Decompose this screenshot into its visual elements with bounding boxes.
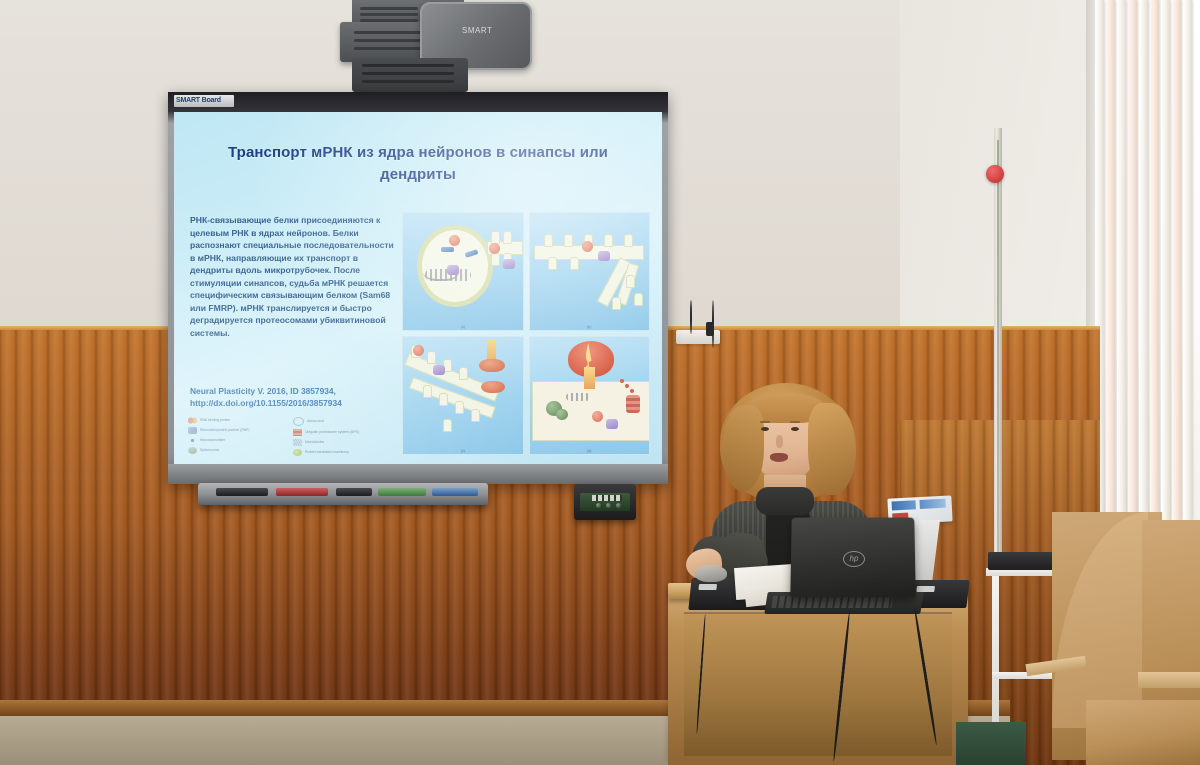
microtubule-icon: [293, 439, 302, 446]
window-with-blinds: [1095, 0, 1200, 520]
desk-front-panel: [684, 612, 952, 756]
panel-label: (d): [530, 449, 650, 453]
panel-label: (c): [403, 449, 523, 453]
side-table-leg: [992, 576, 999, 724]
proteasome-icon: [293, 429, 302, 436]
legend-item: Ribonucleoprotein particle (RNP): [188, 427, 289, 434]
eye: [761, 427, 769, 431]
citation-doi[interactable]: http://dx.doi.org/10.1155/2016/3857934: [190, 397, 405, 409]
pen-blue[interactable]: [432, 488, 478, 496]
rna-binding-protein-icon: [188, 417, 197, 424]
slide-citation: Neural Plasticity V. 2016, ID 3857934, h…: [190, 385, 405, 409]
laptop-lid[interactable]: hp: [790, 518, 915, 598]
translation-machinery-icon: [293, 449, 302, 456]
nose: [776, 435, 783, 448]
citation-journal: Neural Plasticity V. 2016, ID 3857934,: [190, 385, 405, 397]
control-panel-face: [580, 493, 630, 511]
bench-seat: [1138, 672, 1200, 688]
legend-item: RNA binding protein: [188, 417, 289, 424]
board-top-bezel: [168, 92, 668, 112]
cable: [712, 300, 714, 348]
figure-grid: (a): [402, 212, 650, 455]
status-leds: [592, 495, 622, 501]
pole-stripe: [997, 140, 999, 560]
turtleneck-collar: [756, 487, 814, 515]
legend-item: Protein translation machinery: [293, 449, 394, 456]
rnp-particle-icon: [188, 427, 197, 434]
slide-body-text: РНК-связывающие белки присоединяются к ц…: [190, 214, 396, 339]
hp-logo: hp: [843, 551, 865, 567]
laptop-keyboard[interactable]: [771, 596, 893, 608]
figure-panel-d: (d): [529, 336, 651, 455]
bench-base: [1086, 700, 1200, 765]
legend-item: Neurotransmitter: [188, 437, 289, 444]
control-button[interactable]: [606, 503, 611, 508]
slide: Транспорт мРНК из ядра нейронов в синапс…: [174, 112, 662, 464]
legend-item: Ubiquitin proteasome system (UPS): [293, 429, 394, 436]
pen-green[interactable]: [378, 488, 426, 496]
smart-board-pen-tray[interactable]: [198, 483, 488, 505]
computer-mouse[interactable]: [695, 565, 727, 582]
pen-black[interactable]: [216, 488, 268, 496]
legend-item: Amino acid: [293, 417, 394, 426]
classroom-scene: SMART SMART Board Транспорт мРНК из ядра…: [0, 0, 1200, 765]
smart-board[interactable]: SMART Board Транспорт мРНК из ядра нейро…: [168, 92, 668, 492]
spliceosome-icon: [188, 447, 197, 454]
figure-panel-b: (b): [529, 212, 651, 331]
pole-red-knob[interactable]: [986, 165, 1004, 183]
hair-left: [722, 405, 764, 491]
projector-brand-label: SMART: [462, 26, 492, 35]
legend-item: Spliceosome: [188, 447, 289, 454]
projector-neck: [352, 58, 468, 92]
figure-panel-c: (c): [402, 336, 524, 455]
neurotransmitter-icon: [188, 437, 197, 444]
legend-item: Microtubules: [293, 439, 394, 446]
pen-red[interactable]: [276, 488, 328, 496]
eye: [791, 427, 799, 431]
hair-right: [808, 403, 856, 495]
control-button[interactable]: [616, 503, 621, 508]
control-button[interactable]: [596, 503, 601, 508]
pen-eraser[interactable]: [336, 488, 372, 496]
mouth: [770, 453, 788, 462]
smart-board-logo: SMART Board: [174, 95, 234, 107]
figure-panel-a: (a): [402, 212, 524, 331]
panel-label: (b): [530, 325, 650, 329]
board-bottom-bezel: [168, 464, 668, 484]
slide-title: Транспорт мРНК из ядра нейронов в синапс…: [208, 142, 628, 186]
amino-acid-icon: [293, 417, 304, 426]
floor-mat: [956, 722, 1026, 765]
projection-screen[interactable]: Транспорт мРНК из ядра нейронов в синапс…: [174, 112, 662, 464]
slide-legend: RNA binding protein Ribonucleoprotein pa…: [188, 417, 394, 463]
panel-label: (a): [403, 325, 523, 329]
board-control-panel[interactable]: [574, 484, 636, 520]
cable: [690, 300, 692, 334]
